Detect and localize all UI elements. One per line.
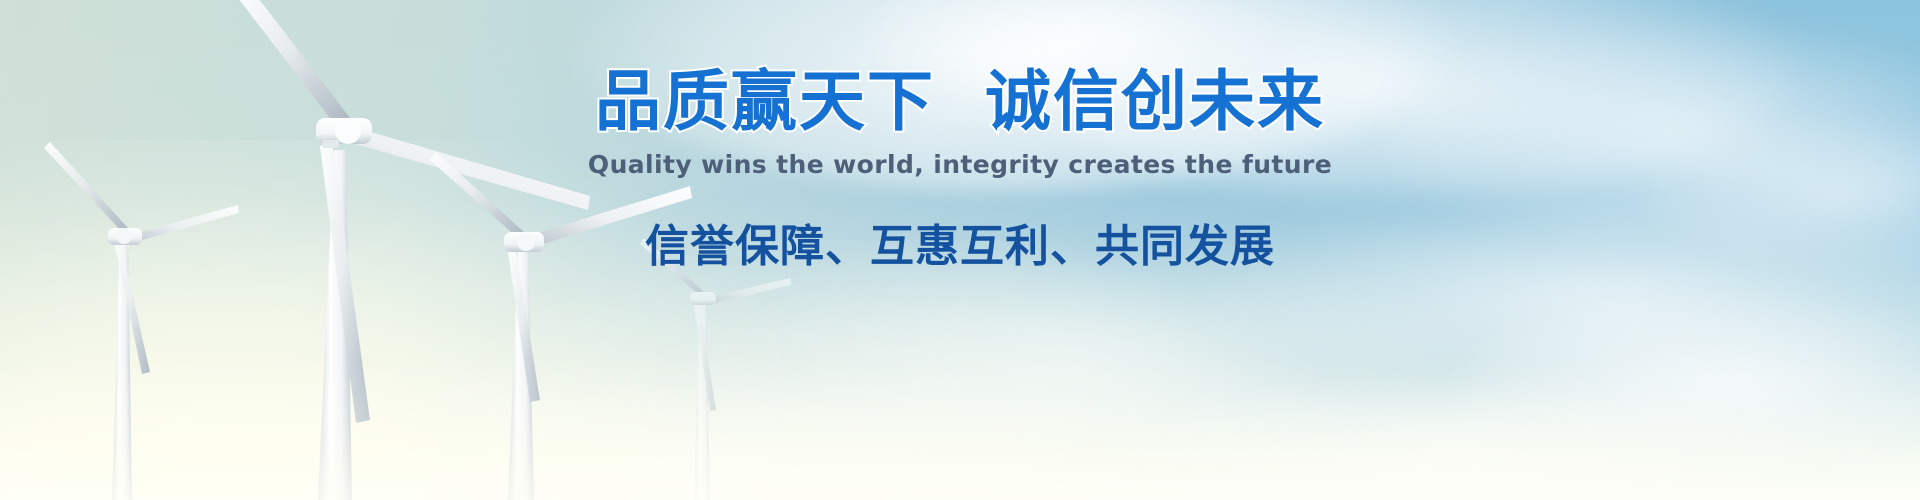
banner-subline-english: Quality wins the world, integrity create…: [0, 150, 1920, 179]
banner-text-block: 品质赢天下 诚信创未来 Quality wins the world, inte…: [0, 0, 1920, 274]
banner-headline: 品质赢天下 诚信创未来: [0, 66, 1920, 137]
banner-tagline: 信誉保障、互惠互利、共同发展: [0, 210, 1920, 274]
hero-banner: 品质赢天下 诚信创未来 Quality wins the world, inte…: [0, 0, 1920, 500]
